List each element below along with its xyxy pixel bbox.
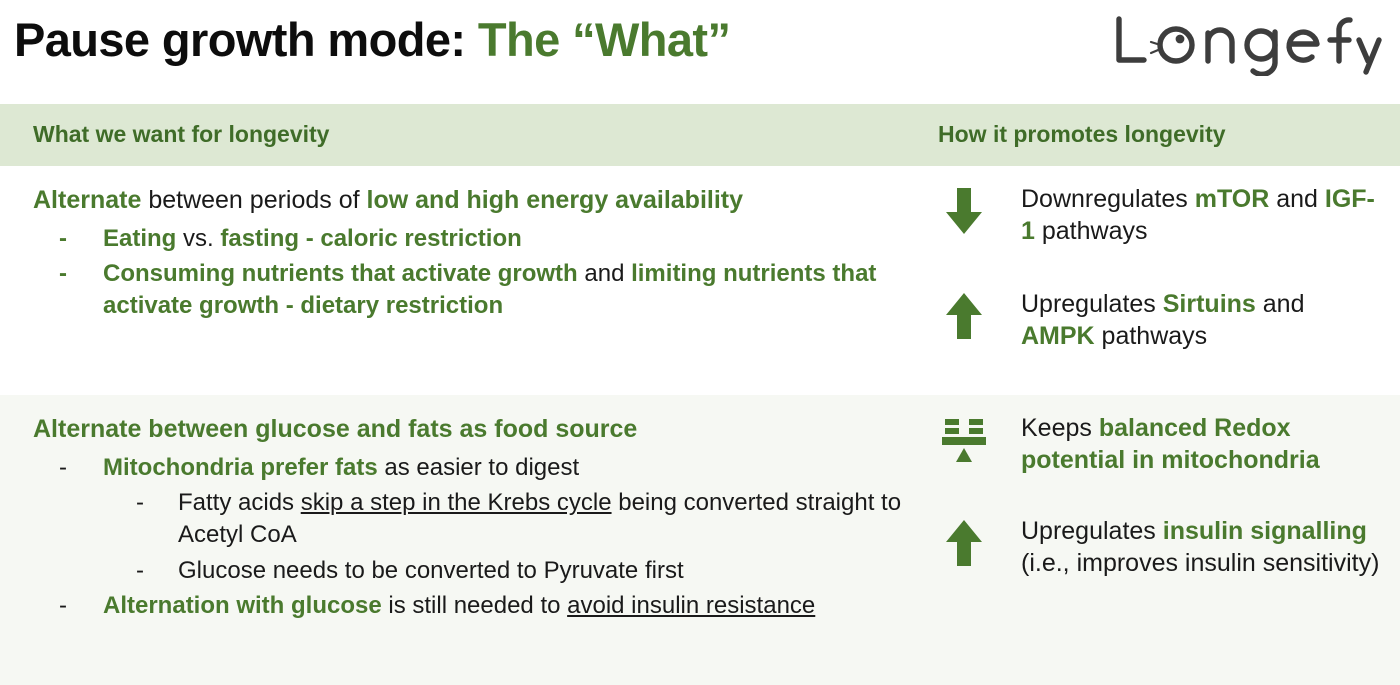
row1-right-column: Downregulates mTOR and IGF-1 pathways Up… <box>925 184 1385 352</box>
fact-part2: mTOR <box>1195 185 1270 213</box>
bullet-dash: - <box>59 452 67 484</box>
bullet-part2: as easier to digest <box>378 454 579 481</box>
list-item: - Mitochondria prefer fats as easier to … <box>33 452 913 484</box>
title-accent: The “What” <box>478 13 730 66</box>
bullet-part1: Alternation with glucose <box>103 592 382 619</box>
fact-downregulates: Downregulates mTOR and IGF-1 pathways <box>925 184 1385 247</box>
bullet-part3: fasting - caloric restriction <box>220 225 521 252</box>
row1-lead-part1: Alternate <box>33 186 141 214</box>
fact-insulin-signalling: Upregulates insulin signalling (i.e., im… <box>925 516 1385 579</box>
bullet-part2: Fatty acids <box>178 489 301 516</box>
row2-lead-part1: Alternate between glucose and fats as fo… <box>33 415 637 443</box>
content-row-2: Alternate between glucose and fats as fo… <box>0 395 1400 685</box>
bullet-part1: Eating <box>103 225 176 252</box>
bullet-part2: vs. <box>176 225 220 252</box>
arrow-up-icon <box>935 291 993 341</box>
row1-lead-part2: between periods of <box>141 186 366 214</box>
fact-part5: pathways <box>1095 322 1208 350</box>
list-item: - Glucose needs to be converted to Pyruv… <box>33 555 913 587</box>
title-plain: Pause growth mode: <box>14 13 465 66</box>
row2-left-column: Alternate between glucose and fats as fo… <box>33 413 913 622</box>
row1-bullet-list: - Eating vs. fasting - caloric restricti… <box>33 223 913 322</box>
fact-part3: (i.e., improves insulin sensitivity) <box>1021 549 1379 577</box>
row2-lead: Alternate between glucose and fats as fo… <box>33 413 913 446</box>
fact-part4: AMPK <box>1021 322 1095 350</box>
bullet-part2: is still needed to <box>382 592 567 619</box>
row1-left-column: Alternate between periods of low and hig… <box>33 184 913 322</box>
list-item: - Alternation with glucose is still need… <box>33 590 913 622</box>
arrow-up-icon <box>935 518 993 568</box>
logo-eye-icon <box>1176 35 1185 44</box>
row2-bullet-list: - Mitochondria prefer fats as easier to … <box>33 452 913 622</box>
balance-scale-icon <box>935 415 993 465</box>
bullet-dash: - <box>59 223 67 255</box>
bullet-underlined: skip a step in the Krebs cycle <box>301 489 612 516</box>
fact-part3: and <box>1256 290 1305 318</box>
bullet-underlined: avoid insulin resistance <box>567 592 815 619</box>
fact-part1: Upregulates <box>1021 290 1163 318</box>
row1-lead-part3: low and high energy availability <box>367 186 743 214</box>
bullet-part1: Mitochondria prefer fats <box>103 454 378 481</box>
bullet-dash: - <box>136 555 144 587</box>
longefy-logo-icon <box>1110 12 1382 76</box>
bullet-part1: Consuming nutrients that activate growth <box>103 260 578 287</box>
row1-lead: Alternate between periods of low and hig… <box>33 184 913 217</box>
bullet-dash: - <box>59 258 67 290</box>
bullet-dash: - <box>136 487 144 519</box>
title-bar: Pause growth mode: The “What” <box>0 0 1400 104</box>
fact-part3: and <box>1269 185 1325 213</box>
content-row-1: Alternate between periods of low and hig… <box>0 166 1400 395</box>
list-item: - Eating vs. fasting - caloric restricti… <box>33 223 913 255</box>
column-header-band: What we want for longevity How it promot… <box>0 104 1400 166</box>
bullet-part2: Glucose needs to be converted to Pyruvat… <box>178 557 684 584</box>
longefy-logo <box>1110 9 1382 79</box>
page-title: Pause growth mode: The “What” <box>14 12 730 67</box>
bullet-part2: and <box>578 260 631 287</box>
row2-right-column: Keeps balanced Redox potential in mitoch… <box>925 413 1385 579</box>
bullet-dash: - <box>59 590 67 622</box>
list-item: - Fatty acids skip a step in the Krebs c… <box>33 487 913 550</box>
list-item: - Consuming nutrients that activate grow… <box>33 258 913 321</box>
fact-upregulates-sirtuins: Upregulates Sirtuins and AMPK pathways <box>925 289 1385 352</box>
fact-part1: Keeps <box>1021 414 1099 442</box>
header-col-how: How it promotes longevity <box>938 121 1226 148</box>
fact-redox-balance: Keeps balanced Redox potential in mitoch… <box>925 413 1385 476</box>
fact-part2: Sirtuins <box>1163 290 1256 318</box>
fact-part5: pathways <box>1035 217 1148 245</box>
header-col-what: What we want for longevity <box>33 121 329 148</box>
fact-part1: Upregulates <box>1021 517 1163 545</box>
fact-part1: Downregulates <box>1021 185 1195 213</box>
fact-part2: insulin signalling <box>1163 517 1367 545</box>
arrow-down-icon <box>935 186 993 236</box>
